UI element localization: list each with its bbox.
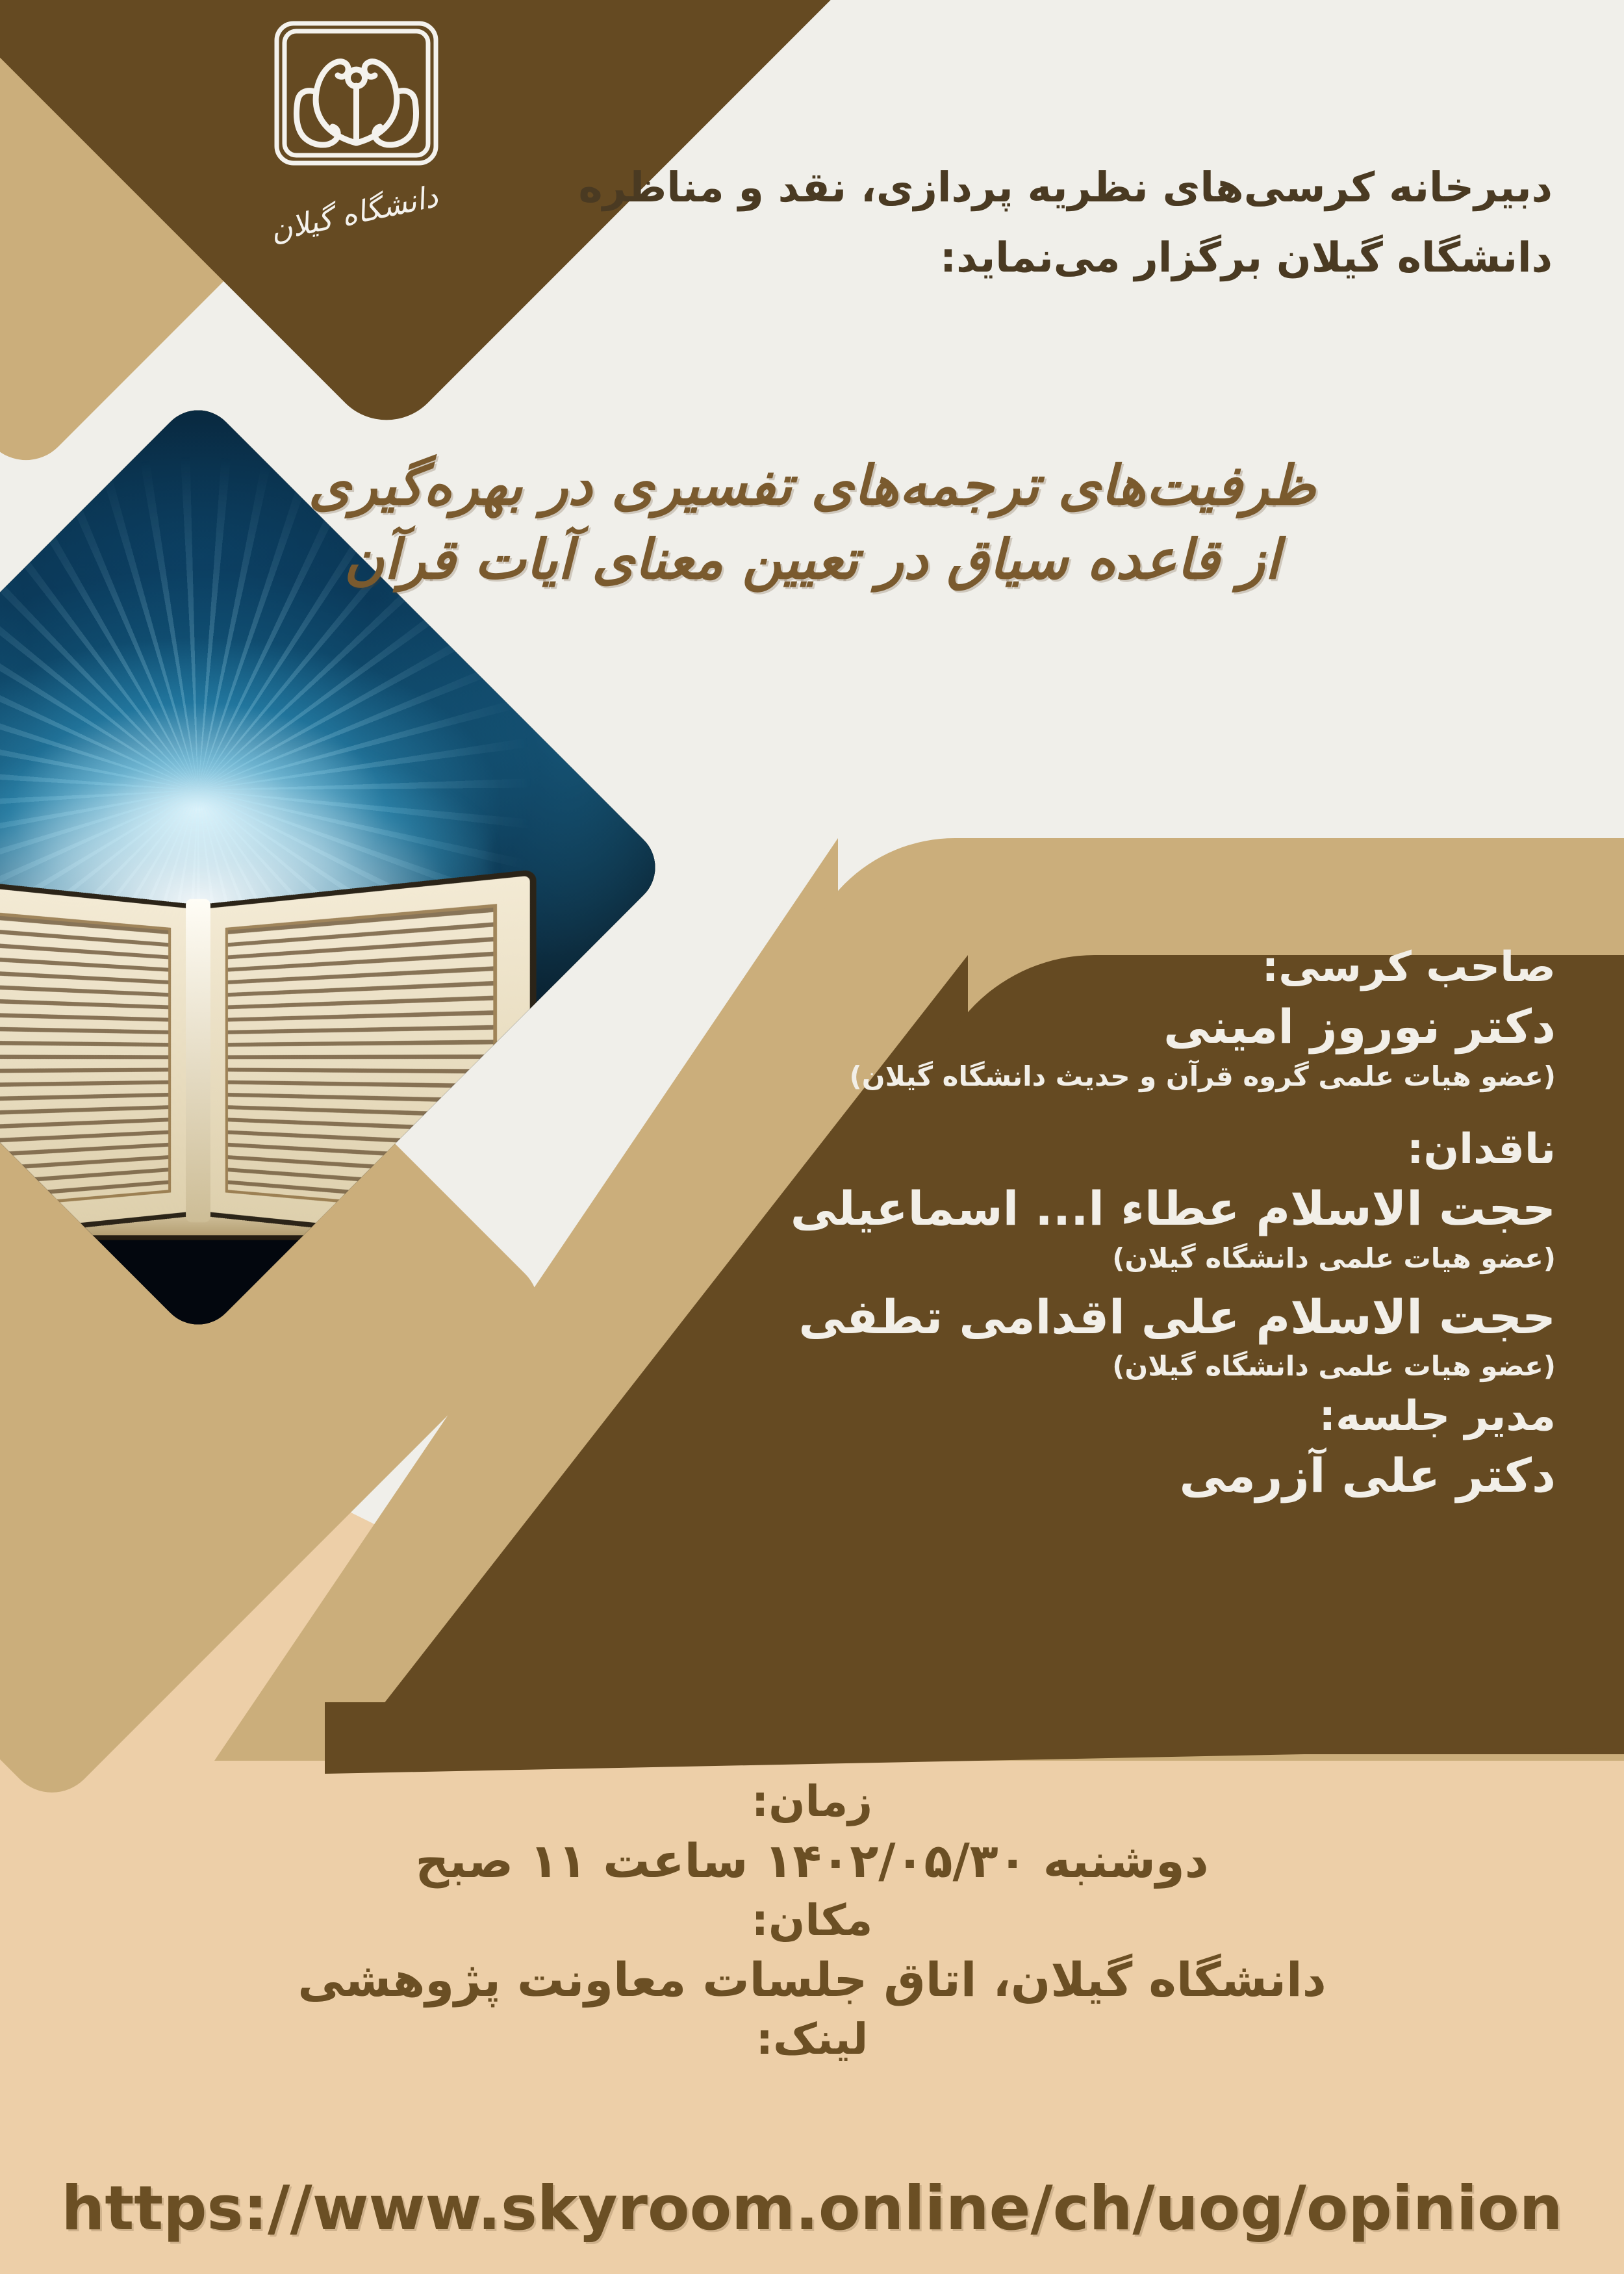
place-label: مکان: xyxy=(0,1893,1624,1948)
spacer xyxy=(633,1277,1556,1283)
place-value: دانشگاه گیلان، اتاق جلسات معاونت پژوهشی xyxy=(0,1948,1624,2012)
critic-1-affiliation: (عضو هیات علمی دانشگاه گیلان) xyxy=(633,1241,1556,1277)
poster-canvas: دانشگاه گیلان دبیرخانه کرسی‌های نظریه پر… xyxy=(0,0,1624,2274)
details-section: زمان: دوشنبه ۱۴۰۲/۰۵/۳۰ ساعت ۱۱ صبح مکان… xyxy=(0,1774,1624,2067)
link-label: لینک: xyxy=(0,2012,1624,2067)
logo-caption: دانشگاه گیلان xyxy=(267,179,441,248)
university-logo: دانشگاه گیلان xyxy=(251,16,462,275)
event-title-line-2: از قاعده سیاق در تعیین معنای آیات قرآن xyxy=(65,522,1559,596)
meeting-link-url[interactable]: https://www.skyroom.online/ch/uog/opinio… xyxy=(0,2173,1624,2244)
organizer-line-2: دانشگاه گیلان برگزار می‌نماید: xyxy=(481,223,1553,293)
spacer xyxy=(633,1094,1556,1124)
event-title: ظرفیت‌های ترجمه‌های تفسیری در بهره‌گیری … xyxy=(65,448,1559,596)
chair-name: دکتر نوروز امینی xyxy=(633,997,1556,1058)
critic-1-name: حجت الاسلام عطاء ا... اسماعیلی xyxy=(633,1179,1556,1240)
organizer-line-1: دبیرخانه کرسی‌های نظریه پردازی، نقد و من… xyxy=(481,153,1553,223)
time-label: زمان: xyxy=(0,1774,1624,1830)
book-spine xyxy=(186,899,210,1222)
chair-affiliation: (عضو هیات علمی گروه قرآن و حدیث دانشگاه … xyxy=(633,1059,1556,1095)
critic-2-affiliation: (عضو هیات علمی دانشگاه گیلان) xyxy=(633,1349,1556,1385)
chair-label: صاحب کرسی: xyxy=(633,942,1556,993)
moderator-name: دکتر علی آزرمی xyxy=(633,1446,1556,1507)
people-section: صاحب کرسی: دکتر نوروز امینی (عضو هیات عل… xyxy=(633,942,1556,1506)
critic-2-name: حجت الاسلام علی اقدامی تطفی xyxy=(633,1287,1556,1348)
moderator-label: مدیر جلسه: xyxy=(633,1391,1556,1442)
critics-label: ناقدان: xyxy=(633,1124,1556,1175)
open-quran-book-icon xyxy=(0,904,500,1216)
time-value: دوشنبه ۱۴۰۲/۰۵/۳۰ ساعت ۱۱ صبح xyxy=(0,1830,1624,1893)
organizer-header: دبیرخانه کرسی‌های نظریه پردازی، نقد و من… xyxy=(481,153,1553,294)
event-title-line-1: ظرفیت‌های ترجمه‌های تفسیری در بهره‌گیری xyxy=(65,448,1559,522)
spacer xyxy=(633,1385,1556,1391)
